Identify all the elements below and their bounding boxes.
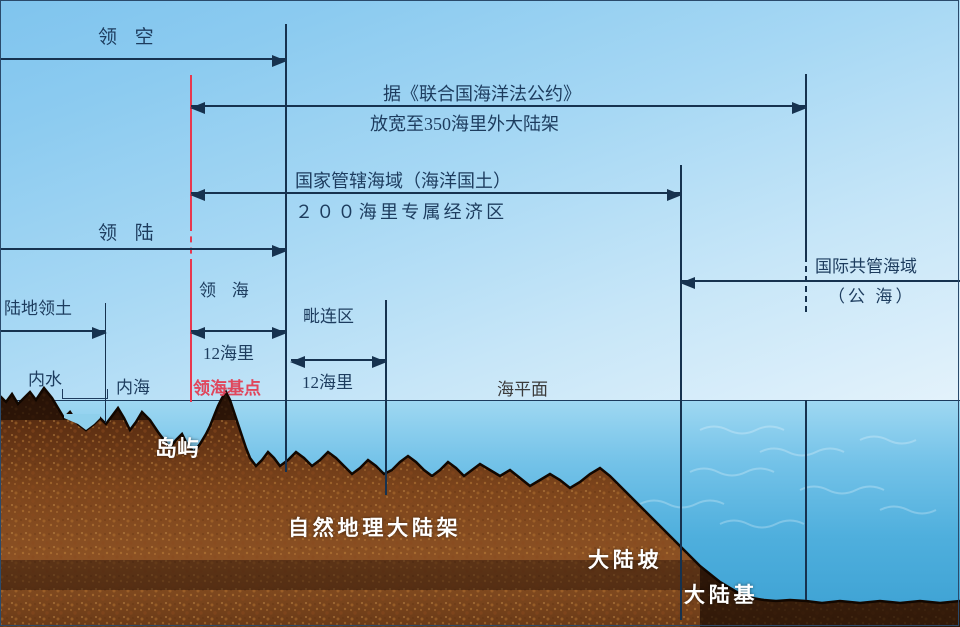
diagram-frame bbox=[0, 0, 959, 626]
ocean-law-diagram: 领 空 据《联合国海洋法公约》 放宽至350海里外大陆架 国家管辖海域（海洋国土… bbox=[0, 0, 960, 627]
